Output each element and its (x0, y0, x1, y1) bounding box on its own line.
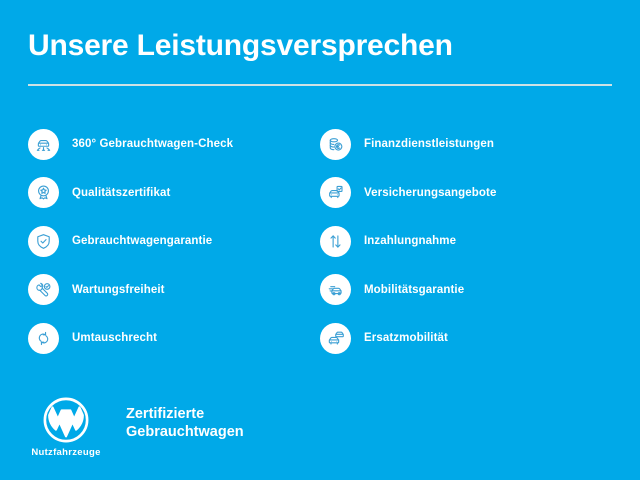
list-item-label: Mobilitätsgarantie (364, 283, 464, 297)
car-motion-icon (320, 274, 351, 305)
exchange-arrows-icon (28, 323, 59, 354)
slide-root: Unsere Leistungsversprechen (0, 0, 640, 480)
brand-claim-line2: Gebrauchtwagen (126, 423, 244, 441)
wrench-check-icon (28, 274, 59, 305)
two-cars-icon (320, 323, 351, 354)
vw-logo-icon (42, 396, 90, 444)
list-item[interactable]: Qualitätszertifikat (28, 169, 320, 218)
coins-euro-icon (320, 129, 351, 160)
list-item-label: Gebrauchtwagengarantie (72, 234, 212, 248)
list-item[interactable]: Wartungsfreiheit (28, 266, 320, 315)
promises-container: 360° Gebrauchtwagen-Check Qualitätszerti… (28, 120, 612, 363)
header: Unsere Leistungsversprechen (28, 28, 612, 86)
list-item[interactable]: Versicherungsangebote (320, 169, 612, 218)
list-item[interactable]: Finanzdienstleistungen (320, 120, 612, 169)
list-item-label: 360° Gebrauchtwagen-Check (72, 137, 233, 151)
list-item-label: Finanzdienstleistungen (364, 137, 494, 151)
promises-column-left: 360° Gebrauchtwagen-Check Qualitätszerti… (28, 120, 320, 363)
list-item[interactable]: Gebrauchtwagengarantie (28, 217, 320, 266)
promises-column-right: Finanzdienstleistungen Versicherungsange… (320, 120, 612, 363)
brand-claim-line1: Zertifizierte (126, 405, 244, 423)
list-item[interactable]: Ersatzmobilität (320, 314, 612, 363)
shield-check-icon (28, 226, 59, 257)
award-rosette-icon (28, 177, 59, 208)
page-title: Unsere Leistungsversprechen (28, 28, 612, 64)
list-item-label: Qualitätszertifikat (72, 186, 170, 200)
list-item-label: Umtauschrecht (72, 331, 157, 345)
list-item-label: Versicherungsangebote (364, 186, 496, 200)
list-item[interactable]: Umtauschrecht (28, 314, 320, 363)
header-divider (28, 84, 612, 86)
list-item-label: Ersatzmobilität (364, 331, 448, 345)
list-item-label: Wartungsfreiheit (72, 283, 165, 297)
car-document-icon (320, 177, 351, 208)
list-item[interactable]: Mobilitätsgarantie (320, 266, 612, 315)
brand-lockup: Nutzfahrzeuge Zertifizierte Gebrauchtwag… (28, 396, 244, 458)
brand-subline: Nutzfahrzeuge (31, 447, 100, 458)
car-check-icon (28, 129, 59, 160)
up-down-arrows-icon (320, 226, 351, 257)
vw-logo-block: Nutzfahrzeuge (28, 396, 104, 458)
list-item[interactable]: Inzahlungnahme (320, 217, 612, 266)
brand-claim: Zertifizierte Gebrauchtwagen (126, 396, 244, 441)
list-item[interactable]: 360° Gebrauchtwagen-Check (28, 120, 320, 169)
list-item-label: Inzahlungnahme (364, 234, 456, 248)
